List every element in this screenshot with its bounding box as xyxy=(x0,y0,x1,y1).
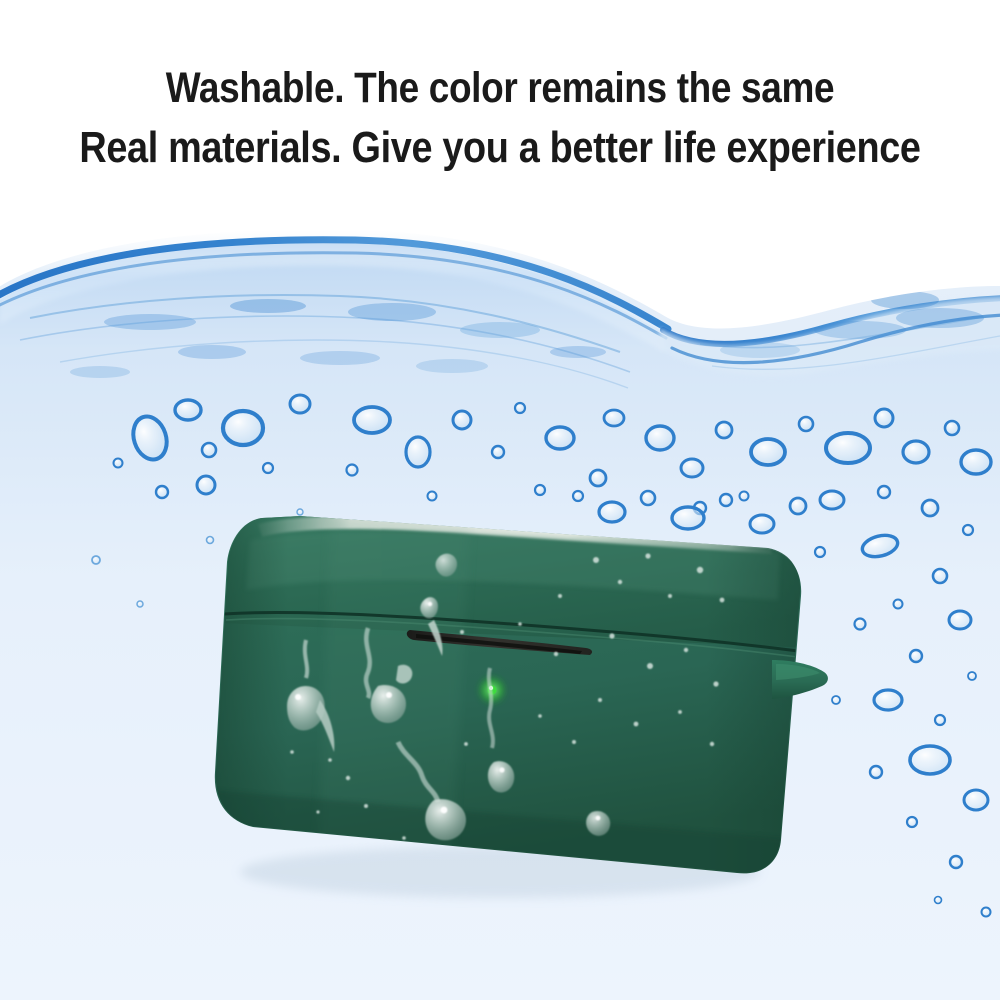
headline-line-1: Washable. The color remains the same xyxy=(70,58,930,118)
headline-line-2: Real materials. Give you a better life e… xyxy=(70,118,930,178)
headline-block: Washable. The color remains the same Rea… xyxy=(0,58,1000,178)
product-marketing-image: Washable. The color remains the same Rea… xyxy=(0,0,1000,1000)
bubbles-over-case-top xyxy=(573,491,806,533)
